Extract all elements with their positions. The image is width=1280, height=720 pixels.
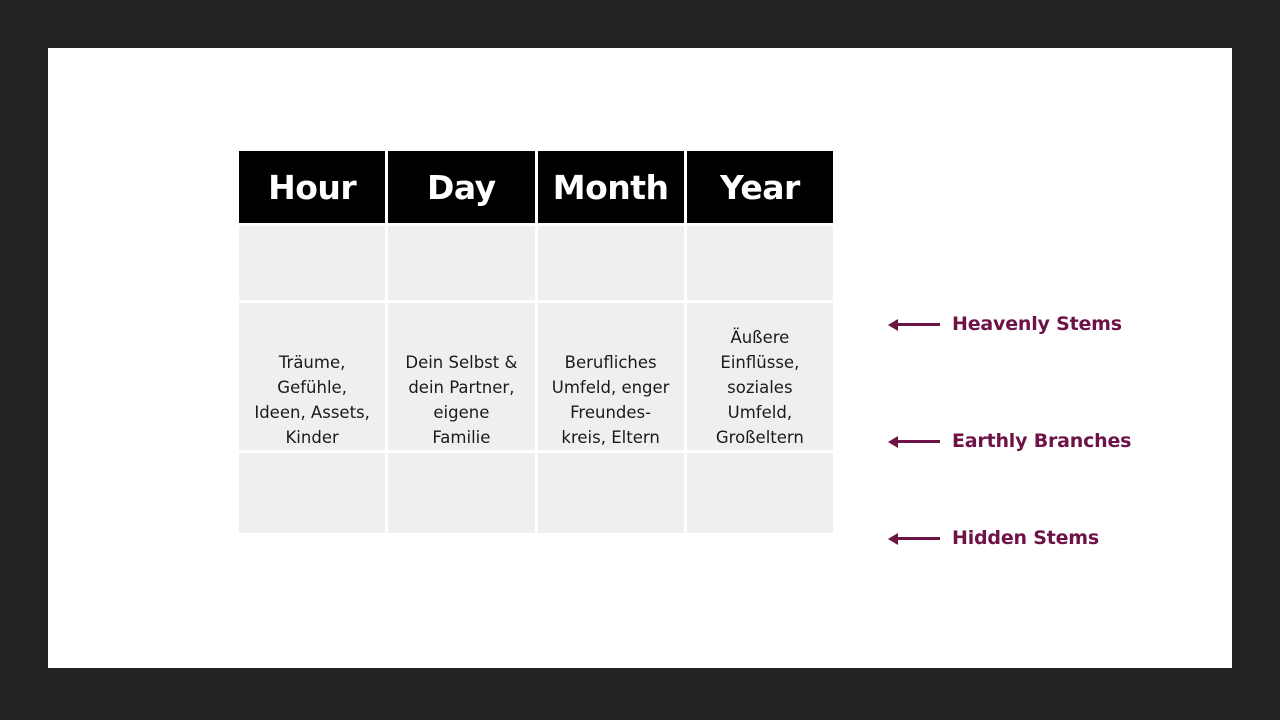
annotation-label-earthly-branches: Earthly Branches <box>952 430 1131 452</box>
cell-earthly-month: Berufliches Umfeld, enger Freundes-kreis… <box>538 303 684 450</box>
table-header: Hour Day Month Year <box>239 151 833 223</box>
cell-heavenly-hour <box>239 226 385 300</box>
annotation-label-heavenly-stems: Heavenly Stems <box>952 313 1122 335</box>
cell-earthly-hour: Träume, Gefühle, Ideen, Assets, Kinder <box>239 303 385 450</box>
cell-hidden-year <box>687 453 833 533</box>
table-row-heavenly-stems <box>239 226 833 300</box>
column-header-day: Day <box>388 151 534 223</box>
cell-hidden-month <box>538 453 684 533</box>
cell-text: Äußere Einflüsse, soziales Umfeld, Große… <box>687 325 833 450</box>
cell-earthly-year: Äußere Einflüsse, soziales Umfeld, Große… <box>687 303 833 450</box>
cell-text: Berufliches Umfeld, enger Freundes-kreis… <box>538 350 684 450</box>
header-row: Hour Day Month Year <box>239 151 833 223</box>
annotation-earthly-branches: Earthly Branches <box>888 430 1131 452</box>
left-arrow-icon <box>888 317 940 331</box>
column-header-hour: Hour <box>239 151 385 223</box>
annotation-label-hidden-stems: Hidden Stems <box>952 527 1099 549</box>
cell-hidden-hour <box>239 453 385 533</box>
annotation-heavenly-stems: Heavenly Stems <box>888 313 1122 335</box>
slide-canvas: Hour Day Month Year Träume, Gefühle, Ide… <box>48 48 1232 668</box>
cell-heavenly-month <box>538 226 684 300</box>
column-header-year: Year <box>687 151 833 223</box>
cell-hidden-day <box>388 453 534 533</box>
table-row-hidden-stems <box>239 453 833 533</box>
left-arrow-icon <box>888 434 940 448</box>
table-body: Träume, Gefühle, Ideen, Assets, Kinder D… <box>239 226 833 533</box>
cell-text: Träume, Gefühle, Ideen, Assets, Kinder <box>239 350 385 450</box>
left-arrow-icon <box>888 531 940 545</box>
cell-heavenly-year <box>687 226 833 300</box>
cell-heavenly-day <box>388 226 534 300</box>
bazi-chart: Hour Day Month Year Träume, Gefühle, Ide… <box>236 148 836 532</box>
bazi-table: Hour Day Month Year Träume, Gefühle, Ide… <box>236 148 836 536</box>
cell-earthly-day: Dein Selbst & dein Partner, eigene Famil… <box>388 303 534 450</box>
cell-text: Dein Selbst & dein Partner, eigene Famil… <box>388 350 534 450</box>
annotation-hidden-stems: Hidden Stems <box>888 527 1099 549</box>
table-row-earthly-branches: Träume, Gefühle, Ideen, Assets, Kinder D… <box>239 303 833 450</box>
column-header-month: Month <box>538 151 684 223</box>
